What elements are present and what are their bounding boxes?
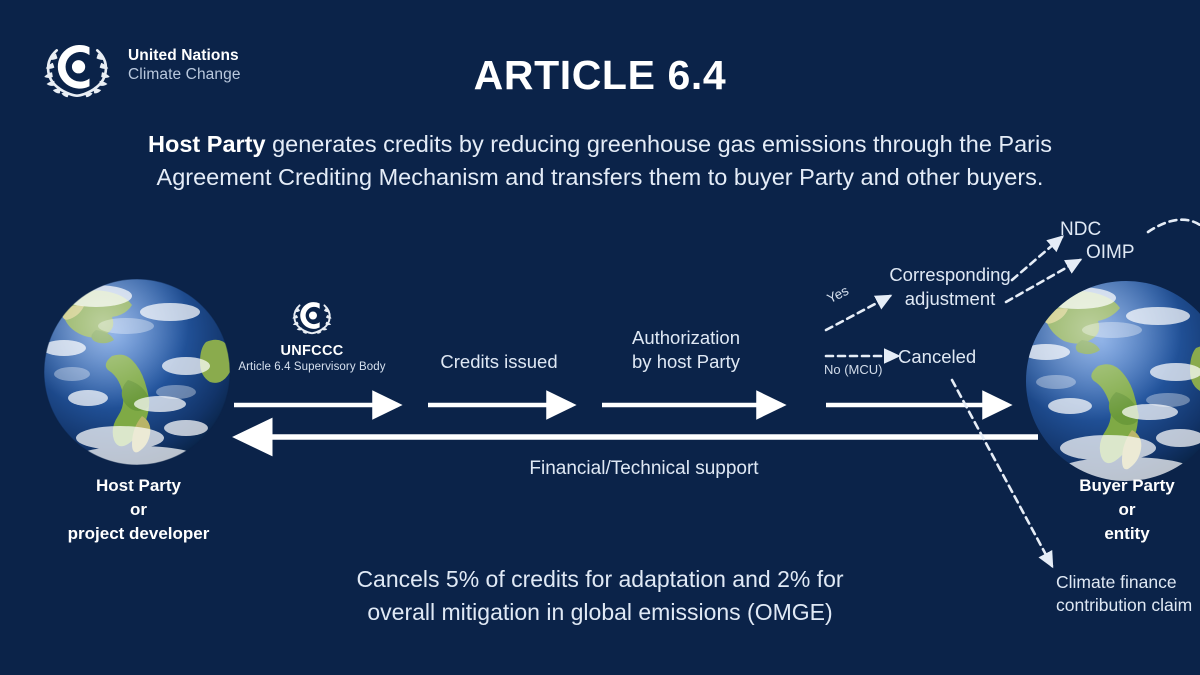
buyer-party-line1: Buyer Party xyxy=(1032,474,1200,498)
subtitle-rest: generates credits by reducing greenhouse… xyxy=(157,131,1052,190)
host-party-line2: or xyxy=(26,498,251,522)
unfccc-sublabel: Article 6.4 Supervisory Body xyxy=(232,361,392,373)
unfccc-label: UNFCCC xyxy=(232,343,392,359)
label-corresponding-line1: Corresponding xyxy=(866,263,1034,287)
label-canceled: Canceled xyxy=(898,345,1028,369)
label-authorization-by-host-party: Authorization by host Party xyxy=(600,326,772,373)
subtitle-emphasis: Host Party xyxy=(148,131,266,157)
label-authorization-line2: by host Party xyxy=(600,350,772,374)
buyer-party-line2: or xyxy=(1032,498,1200,522)
host-earth-globe-icon xyxy=(42,279,233,470)
label-corresponding-adjustment: Corresponding adjustment xyxy=(866,263,1034,310)
label-climate-finance-line2: contribution claim xyxy=(1056,594,1200,617)
slide-canvas: United Nations Climate Change ARTICLE 6.… xyxy=(0,0,1200,675)
buyer-earth-globe-icon xyxy=(1022,281,1200,483)
unfccc-laurel-c-logo-icon-small xyxy=(288,293,336,337)
label-corresponding-line2: adjustment xyxy=(866,287,1034,311)
subtitle-paragraph: Host Party generates credits by reducing… xyxy=(130,128,1070,195)
bottom-note-line1: Cancels 5% of credits for adaptation and… xyxy=(290,563,910,596)
label-climate-finance-contribution-claim: Climate finance contribution claim xyxy=(1056,571,1200,617)
host-party-label: Host Party or project developer xyxy=(26,474,251,546)
label-yes-branch: Yes xyxy=(825,283,851,306)
label-financial-technical-support: Financial/Technical support xyxy=(400,457,888,481)
label-oimp: OIMP xyxy=(1086,241,1176,265)
label-climate-finance-line1: Climate finance xyxy=(1056,571,1200,594)
unfccc-supervisory-body-node: UNFCCC Article 6.4 Supervisory Body xyxy=(232,293,392,373)
label-ndc: NDC xyxy=(1060,218,1140,242)
bottom-note: Cancels 5% of credits for adaptation and… xyxy=(290,563,910,628)
buyer-party-label: Buyer Party or entity xyxy=(1032,474,1200,546)
arrow-incoming-curve-top-right xyxy=(1148,220,1200,238)
label-credits-issued: Credits issued xyxy=(413,350,585,374)
label-authorization-line1: Authorization xyxy=(600,326,772,350)
host-party-line3: project developer xyxy=(26,522,251,546)
buyer-party-line3: entity xyxy=(1032,522,1200,546)
bottom-note-line2: overall mitigation in global emissions (… xyxy=(290,596,910,629)
page-title: ARTICLE 6.4 xyxy=(0,52,1200,99)
label-no-mcu-branch: No (MCU) xyxy=(824,362,914,379)
host-party-line1: Host Party xyxy=(26,474,251,498)
